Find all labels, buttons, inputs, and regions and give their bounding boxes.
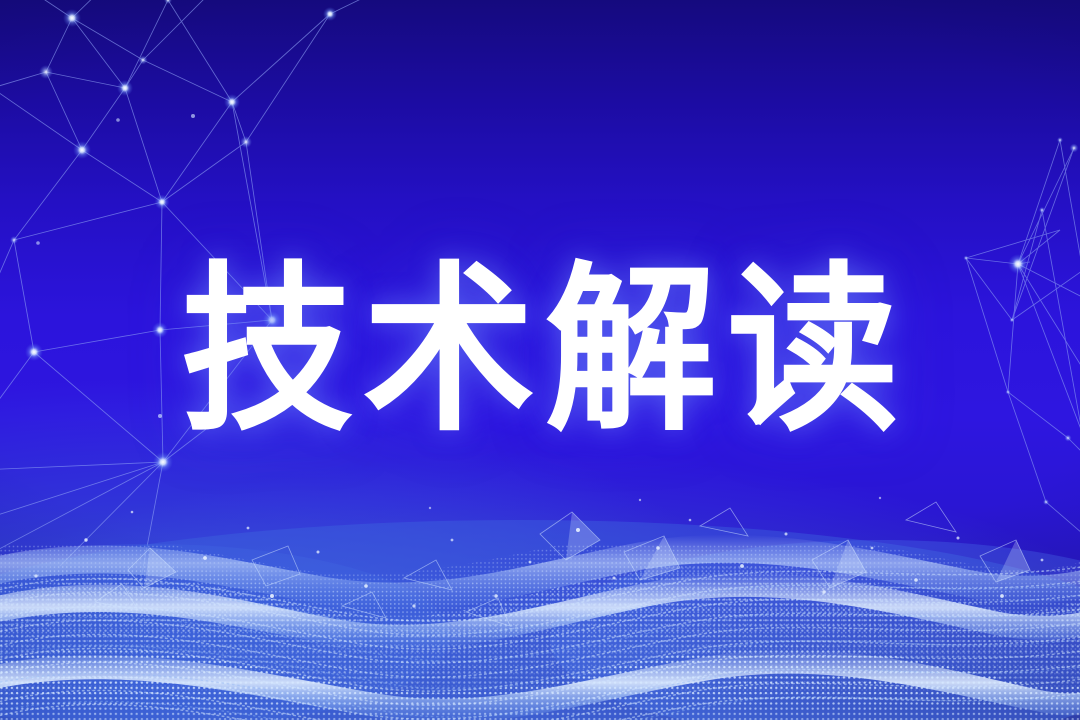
banner-title-block: 技术解读 xyxy=(0,246,1080,456)
banner-title: 技术解读 xyxy=(171,261,909,442)
banner-canvas: 技术解读 xyxy=(0,0,1080,720)
